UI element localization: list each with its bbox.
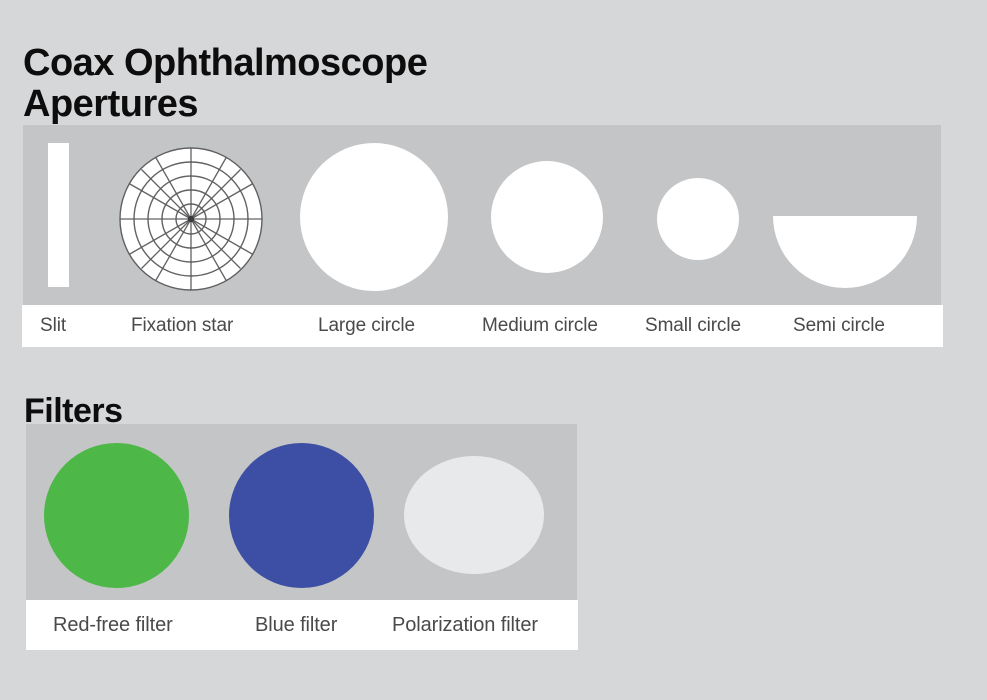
medium-circle-aperture-icon — [491, 161, 603, 273]
polarization-filter-icon — [404, 456, 544, 574]
filters-shape-panel — [26, 424, 577, 600]
small-circle-aperture-icon — [657, 178, 739, 260]
aperture-label-medium-circle: Medium circle — [482, 315, 598, 337]
apertures-section-heading: Coax Ophthalmoscope Apertures — [23, 43, 543, 124]
filter-label-red-free: Red-free filter — [53, 614, 173, 637]
apertures-shape-panel — [23, 125, 941, 305]
aperture-label-fixation-star: Fixation star — [131, 315, 233, 337]
red-free-filter-icon — [44, 443, 189, 588]
ophthalmoscope-apertures-figure: Coax Ophthalmoscope Apertures — [0, 0, 987, 700]
slit-aperture-icon — [48, 143, 69, 287]
filter-label-polarization: Polarization filter — [392, 614, 538, 637]
aperture-label-semi-circle: Semi circle — [793, 315, 885, 337]
blue-filter-icon — [229, 443, 374, 588]
filter-label-blue: Blue filter — [255, 614, 337, 637]
aperture-label-large-circle: Large circle — [318, 315, 415, 337]
aperture-label-small-circle: Small circle — [645, 315, 741, 337]
semi-circle-aperture-icon — [773, 216, 917, 288]
fixation-star-aperture-icon — [119, 147, 263, 291]
large-circle-aperture-icon — [300, 143, 448, 291]
aperture-label-slit: Slit — [40, 315, 66, 337]
